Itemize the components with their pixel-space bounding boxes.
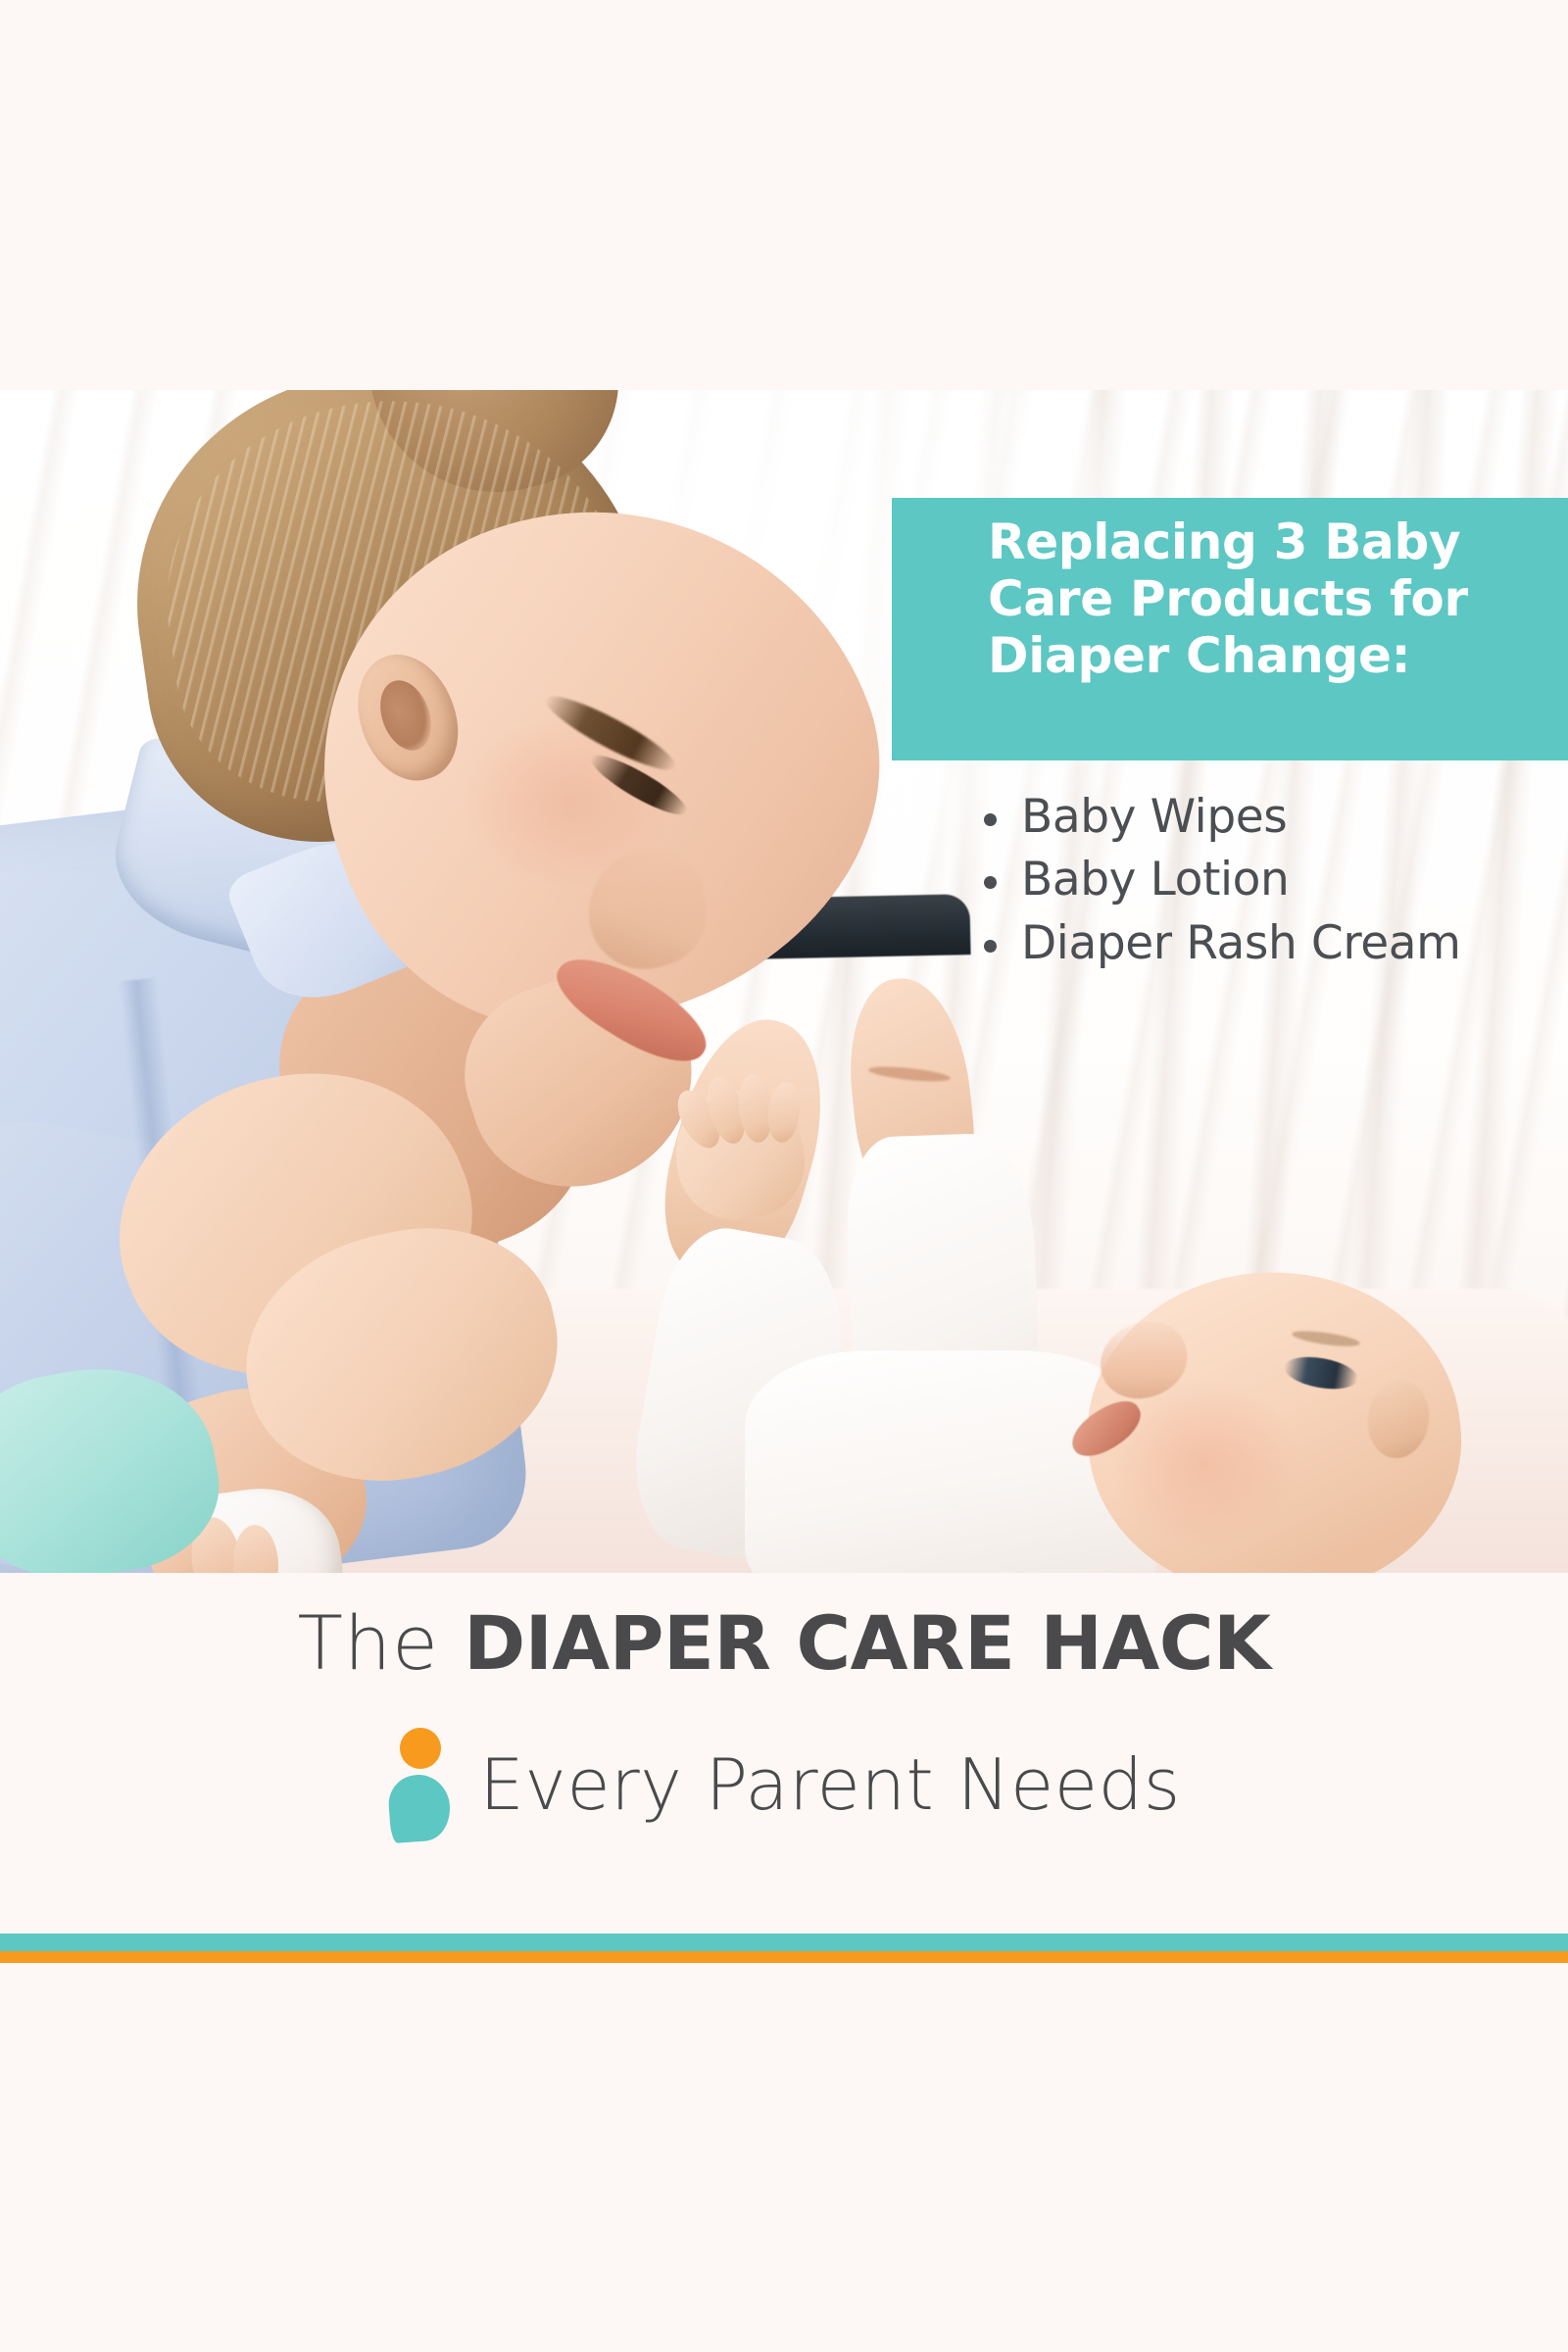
caption-title-light: The — [298, 1599, 465, 1687]
caption-title: The DIAPER CARE HACK — [0, 1606, 1568, 1681]
baby-diaper — [0, 1349, 231, 1573]
caption-block: The DIAPER CARE HACK Every Parent Needs — [0, 1573, 1568, 1934]
brand-logo-icon — [387, 1728, 452, 1841]
list-item: Baby Lotion — [976, 853, 1505, 907]
list-item: Baby Wipes — [976, 790, 1505, 845]
product-list: Baby Wipes Baby Lotion Diaper Rash Cream — [976, 790, 1505, 979]
baby-cheek — [1112, 1380, 1298, 1546]
list-item: Diaper Rash Cream — [976, 916, 1505, 971]
caption-subtitle-row: Every Parent Needs — [0, 1728, 1568, 1841]
poster-root: Replacing 3 Baby Care Products for Diape… — [0, 0, 1568, 2352]
caption-title-bold: DIAPER CARE HACK — [464, 1599, 1270, 1687]
caption-subtitle: Every Parent Needs — [479, 1749, 1181, 1820]
accent-bar-teal — [0, 1934, 1568, 1951]
accent-bar-orange — [0, 1951, 1568, 1963]
logo-body-shape — [387, 1773, 453, 1843]
logo-head-dot — [400, 1728, 441, 1769]
headline-text: Replacing 3 Baby Care Products for Diape… — [988, 514, 1568, 684]
